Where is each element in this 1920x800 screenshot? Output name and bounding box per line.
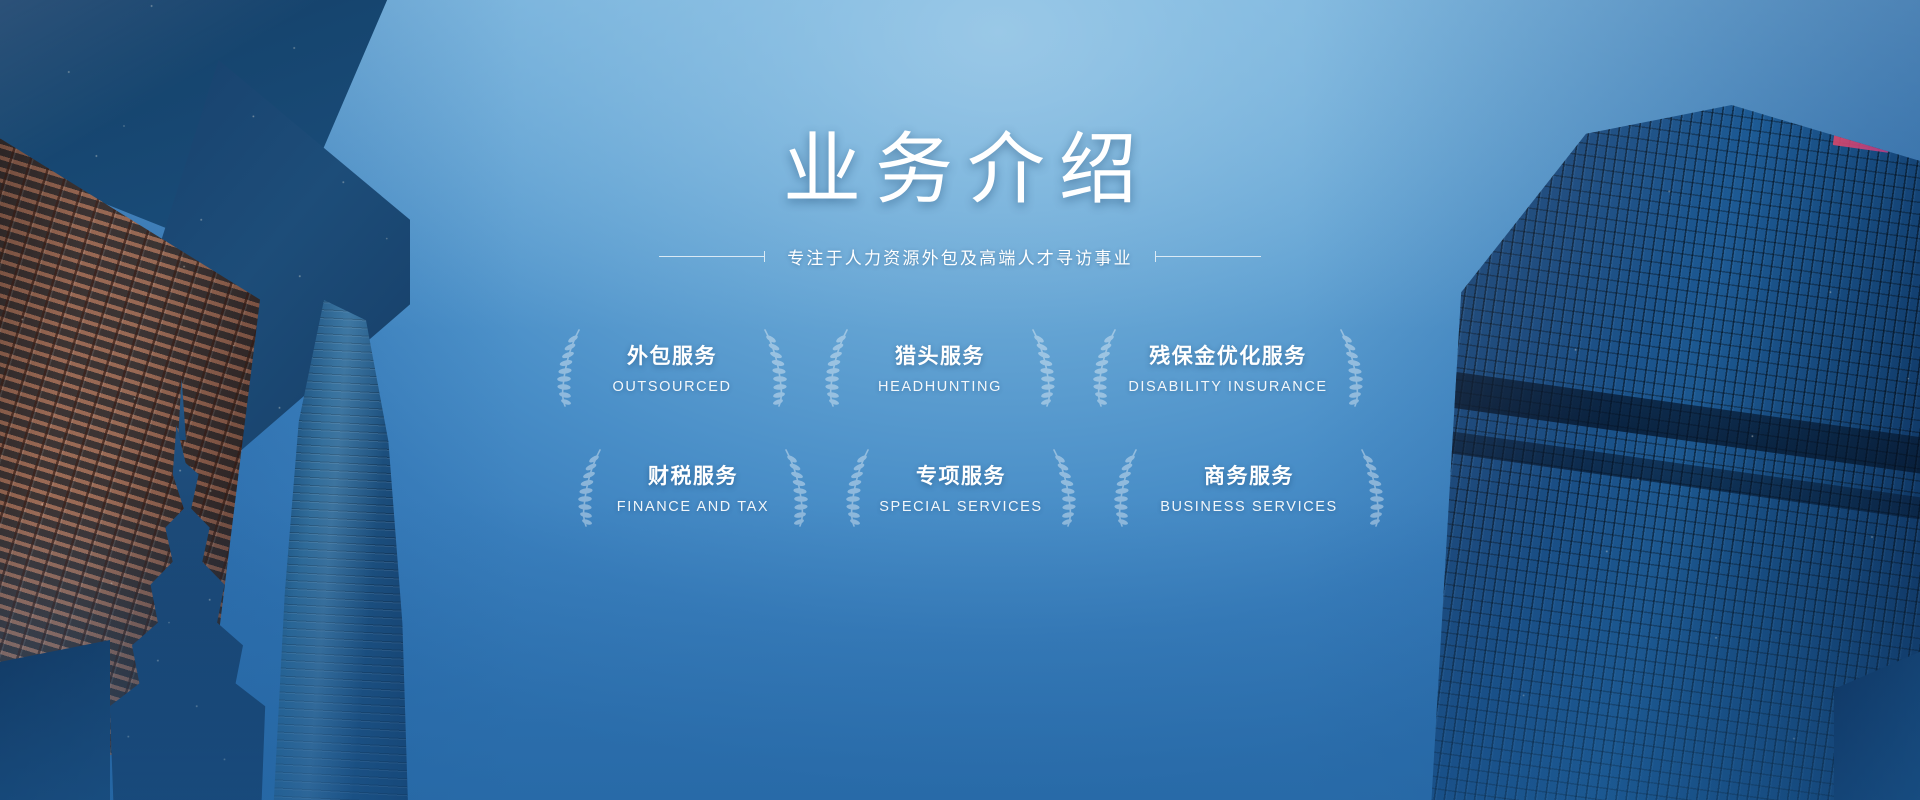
hero-banner: 业务介绍 专注于人力资源外包及高端人才寻访事业 (0, 0, 1920, 800)
page-title: 业务介绍 (769, 130, 1151, 208)
divider-line-right-icon (1155, 251, 1261, 262)
sky-bottom-shade (0, 500, 1920, 800)
service-list: 外包服务 OUTSOURCED (536, 321, 1384, 533)
service-title-en: HEADHUNTING (878, 379, 1002, 395)
laurel-branch-left-icon (842, 447, 872, 527)
service-title-en: OUTSOURCED (612, 379, 731, 395)
service-item-business-services[interactable]: 商务服务 BUSINESS SERVICES (1114, 441, 1384, 533)
service-item-finance-and-tax[interactable]: 财税服务 FINANCE AND TAX (578, 441, 808, 533)
service-title-en: SPECIAL SERVICES (879, 499, 1042, 515)
subtitle-row: 专注于人力资源外包及高端人才寻访事业 (659, 244, 1261, 269)
divider-bar (659, 256, 764, 257)
service-title-cn: 商务服务 (1204, 460, 1294, 490)
laurel-branch-right-icon (761, 327, 791, 407)
laurel-branch-right-icon (1029, 327, 1059, 407)
service-item-special-services[interactable]: 专项服务 SPECIAL SERVICES (846, 441, 1076, 533)
service-title-cn: 外包服务 (627, 340, 717, 370)
laurel-branch-left-icon (553, 327, 583, 407)
service-title-cn: 专项服务 (916, 460, 1006, 490)
divider-tick (764, 251, 765, 262)
service-row-2: 财税服务 FINANCE AND TAX (578, 441, 1384, 533)
laurel-branch-right-icon (782, 447, 812, 527)
laurel-branch-right-icon (1337, 327, 1367, 407)
service-title-en: DISABILITY INSURANCE (1128, 379, 1327, 395)
service-title-cn: 残保金优化服务 (1149, 340, 1307, 370)
service-item-headhunting[interactable]: 猎头服务 HEADHUNTING (825, 321, 1055, 413)
laurel-branch-left-icon (1110, 447, 1140, 527)
laurel-branch-left-icon (574, 447, 604, 527)
service-item-disability-insurance[interactable]: 残保金优化服务 DISABILITY INSURANCE (1093, 321, 1363, 413)
service-title-cn: 猎头服务 (895, 340, 985, 370)
service-title-en: BUSINESS SERVICES (1160, 499, 1338, 515)
service-title-cn: 财税服务 (648, 460, 738, 490)
laurel-branch-right-icon (1358, 447, 1388, 527)
page-subtitle: 专注于人力资源外包及高端人才寻访事业 (787, 244, 1133, 269)
divider-bar (1156, 256, 1261, 257)
service-title-en: FINANCE AND TAX (617, 499, 769, 515)
service-item-outsourced[interactable]: 外包服务 OUTSOURCED (557, 321, 787, 413)
laurel-branch-left-icon (821, 327, 851, 407)
laurel-branch-right-icon (1050, 447, 1080, 527)
service-row-1: 外包服务 OUTSOURCED (536, 321, 1384, 413)
divider-line-left-icon (659, 251, 765, 262)
laurel-branch-left-icon (1089, 327, 1119, 407)
